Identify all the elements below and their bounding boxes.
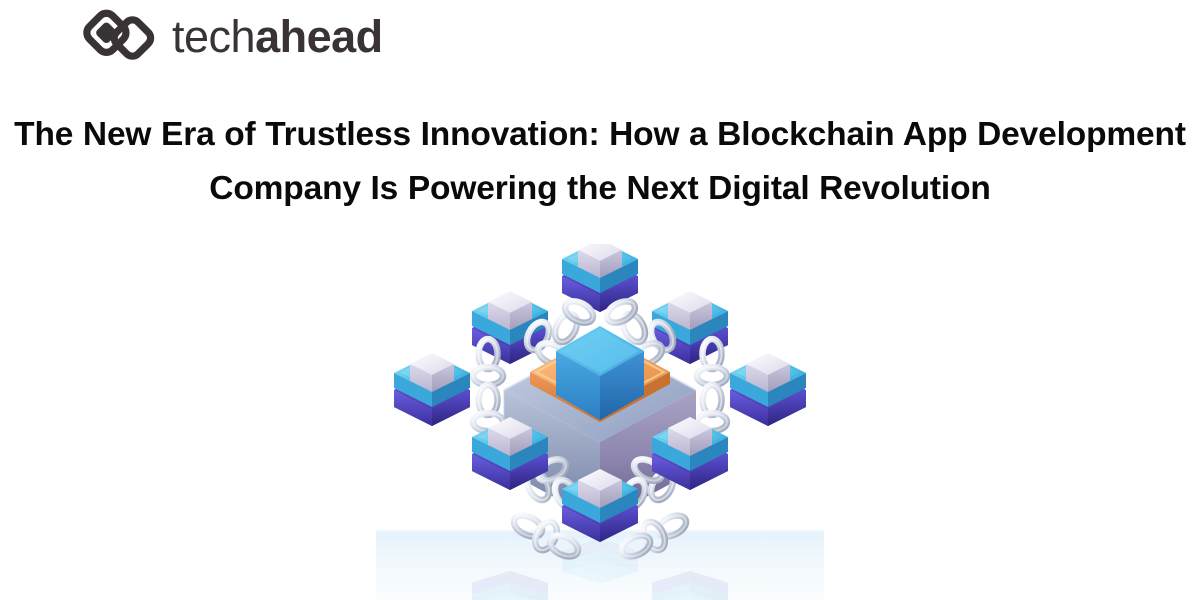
logo-wordmark-bold: ahead [255,14,383,59]
techahead-logo-mark [80,6,160,66]
logo-wordmark: techahead [172,14,383,59]
page-title: The New Era of Trustless Innovation: How… [14,108,1186,217]
site-logo[interactable]: techahead [80,0,383,72]
article-header: The New Era of Trustless Innovation: How… [0,108,1200,217]
logo-wordmark-light: tech [172,14,255,59]
node-block-right [730,353,806,426]
node-block-left [394,353,470,426]
blockchain-network-illustration [376,244,824,600]
